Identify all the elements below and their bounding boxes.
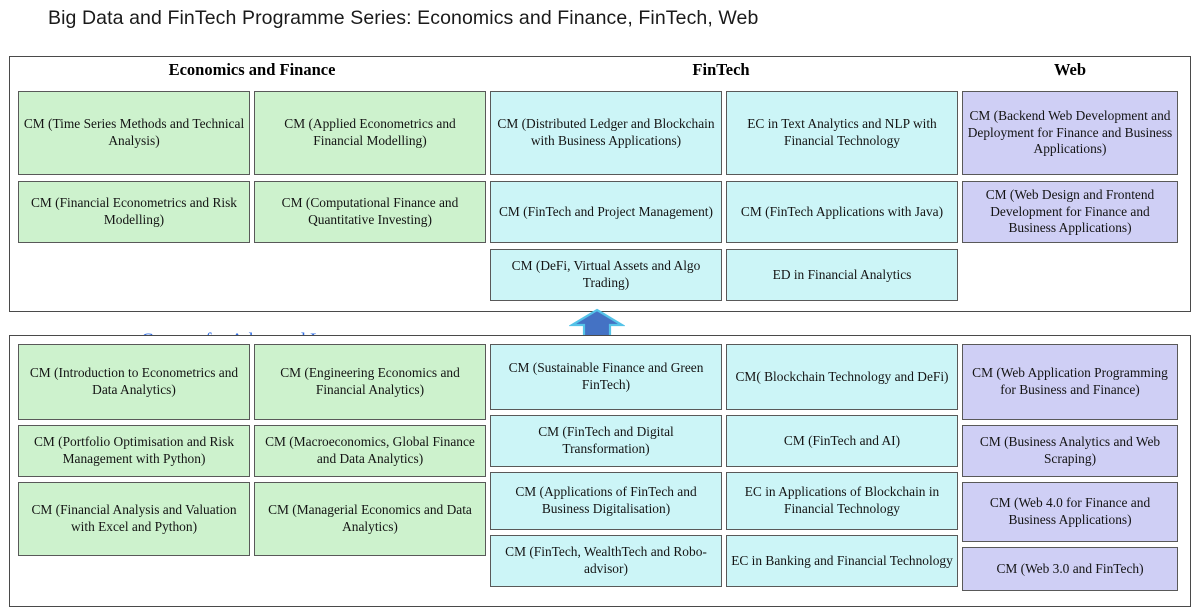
course-label: ED in Financial Analytics: [731, 267, 953, 284]
course-label: CM (Financial Analysis and Valuation wit…: [23, 502, 245, 535]
course-label: CM (Sustainable Finance and Green FinTec…: [495, 360, 717, 393]
course-card[interactable]: CM (FinTech and Digital Transformation): [490, 415, 722, 467]
course-card[interactable]: CM (DeFi, Virtual Assets and Algo Tradin…: [490, 249, 722, 301]
course-label: EC in Applications of Blockchain in Fina…: [731, 484, 953, 517]
beginner-intermediate-panel: CM (Introduction to Econometrics and Dat…: [9, 335, 1191, 607]
course-card[interactable]: EC in Text Analytics and NLP with Financ…: [726, 91, 958, 175]
course-card[interactable]: CM (Applied Econometrics and Financial M…: [254, 91, 486, 175]
course-card[interactable]: CM (FinTech and AI): [726, 415, 958, 467]
course-card[interactable]: CM (Web Design and Frontend Development …: [962, 181, 1178, 243]
course-label: CM (Macroeconomics, Global Finance and D…: [259, 434, 481, 467]
course-card[interactable]: CM( Blockchain Technology and DeFi): [726, 344, 958, 410]
course-card[interactable]: CM (Financial Analysis and Valuation wit…: [18, 482, 250, 556]
course-card[interactable]: ED in Financial Analytics: [726, 249, 958, 301]
course-label: CM (FinTech and Digital Transformation): [495, 424, 717, 457]
course-label: EC in Banking and Financial Technology: [731, 553, 953, 570]
course-card[interactable]: CM (Introduction to Econometrics and Dat…: [18, 344, 250, 420]
course-label: CM (Engineering Economics and Financial …: [259, 365, 481, 398]
course-card[interactable]: CM (FinTech Applications with Java): [726, 181, 958, 243]
course-label: CM( Blockchain Technology and DeFi): [731, 369, 953, 386]
course-label: CM (Applied Econometrics and Financial M…: [259, 116, 481, 149]
course-card[interactable]: CM (Web Application Programming for Busi…: [962, 344, 1178, 420]
course-label: CM (Portfolio Optimisation and Risk Mana…: [23, 434, 245, 467]
course-label: CM (DeFi, Virtual Assets and Algo Tradin…: [495, 258, 717, 291]
course-card[interactable]: CM (Time Series Methods and Technical An…: [18, 91, 250, 175]
course-card[interactable]: CM (Web 3.0 and FinTech): [962, 547, 1178, 591]
course-card[interactable]: CM (Backend Web Development and Deployme…: [962, 91, 1178, 175]
course-card[interactable]: CM (Distributed Ledger and Blockchain wi…: [490, 91, 722, 175]
course-label: CM (Web Design and Frontend Development …: [967, 187, 1173, 237]
page-title: Big Data and FinTech Programme Series: E…: [48, 4, 758, 32]
group-header-web: Web: [954, 59, 1186, 81]
course-label: CM (FinTech and AI): [731, 433, 953, 450]
group-header-fintech: FinTech: [488, 59, 954, 81]
diagram-root: Big Data and FinTech Programme Series: E…: [0, 0, 1200, 614]
course-label: CM (FinTech and Project Management): [495, 204, 717, 221]
course-label: CM (Financial Econometrics and Risk Mode…: [23, 195, 245, 228]
course-label: EC in Text Analytics and NLP with Financ…: [731, 116, 953, 149]
course-card[interactable]: CM (Computational Finance and Quantitati…: [254, 181, 486, 243]
course-card[interactable]: CM (FinTech and Project Management): [490, 181, 722, 243]
course-card[interactable]: EC in Banking and Financial Technology: [726, 535, 958, 587]
course-label: CM (FinTech, WealthTech and Robo-advisor…: [495, 544, 717, 577]
course-label: CM (Business Analytics and Web Scraping): [967, 434, 1173, 467]
course-card[interactable]: CM (FinTech, WealthTech and Robo-advisor…: [490, 535, 722, 587]
course-label: CM (Computational Finance and Quantitati…: [259, 195, 481, 228]
course-card[interactable]: CM (Sustainable Finance and Green FinTec…: [490, 344, 722, 410]
course-label: CM (Applications of FinTech and Business…: [495, 484, 717, 517]
course-card[interactable]: CM (Web 4.0 for Finance and Business App…: [962, 482, 1178, 542]
course-card[interactable]: EC in Applications of Blockchain in Fina…: [726, 472, 958, 530]
course-label: CM (Time Series Methods and Technical An…: [23, 116, 245, 149]
course-card[interactable]: CM (Business Analytics and Web Scraping): [962, 425, 1178, 477]
course-label: CM (FinTech Applications with Java): [731, 204, 953, 221]
course-card[interactable]: CM (Managerial Economics and Data Analyt…: [254, 482, 486, 556]
advanced-learners-panel: Economics and Finance FinTech Web CM (Ti…: [9, 56, 1191, 312]
course-label: CM (Distributed Ledger and Blockchain wi…: [495, 116, 717, 149]
course-label: CM (Web 3.0 and FinTech): [967, 561, 1173, 578]
course-label: CM (Web 4.0 for Finance and Business App…: [967, 495, 1173, 528]
course-card[interactable]: CM (Portfolio Optimisation and Risk Mana…: [18, 425, 250, 477]
course-label: CM (Web Application Programming for Busi…: [967, 365, 1173, 398]
course-card[interactable]: CM (Financial Econometrics and Risk Mode…: [18, 181, 250, 243]
course-label: CM (Introduction to Econometrics and Dat…: [23, 365, 245, 398]
advanced-group-headers: Economics and Finance FinTech Web: [10, 57, 1190, 83]
course-label: CM (Managerial Economics and Data Analyt…: [259, 502, 481, 535]
course-card[interactable]: CM (Applications of FinTech and Business…: [490, 472, 722, 530]
course-card[interactable]: CM (Macroeconomics, Global Finance and D…: [254, 425, 486, 477]
group-header-economics-finance: Economics and Finance: [16, 59, 488, 81]
course-label: CM (Backend Web Development and Deployme…: [967, 108, 1173, 158]
course-card[interactable]: CM (Engineering Economics and Financial …: [254, 344, 486, 420]
